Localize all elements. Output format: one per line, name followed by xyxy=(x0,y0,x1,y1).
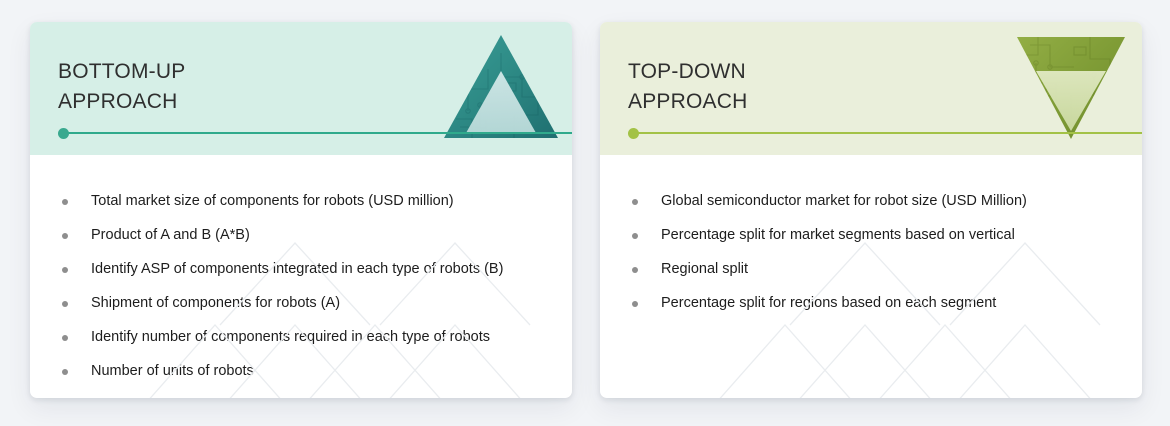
list-item-label: Identify number of components required i… xyxy=(91,329,490,345)
list-item-label: Global semiconductor market for robot si… xyxy=(661,193,1027,209)
bottom-up-bullet-list: Total market size of components for robo… xyxy=(56,193,546,380)
list-item-label: Percentage split for market segments bas… xyxy=(661,227,1015,243)
list-item: Percentage split for regions based on ea… xyxy=(626,295,1116,312)
bullet-dot-icon xyxy=(62,199,68,205)
list-item-label: Identify ASP of components integrated in… xyxy=(91,261,503,277)
bullet-dot-icon xyxy=(632,199,638,205)
list-item-label: Regional split xyxy=(661,261,748,277)
top-down-bullet-list: Global semiconductor market for robot si… xyxy=(626,193,1116,312)
list-item: Identify number of components required i… xyxy=(56,329,546,346)
list-item-label: Number of units of robots xyxy=(91,363,254,379)
list-item: Identify ASP of components integrated in… xyxy=(56,261,546,278)
bottom-up-accent-rule xyxy=(58,132,572,134)
top-down-approach-card: TOP-DOWN APPROACH Global semiconductor m… xyxy=(600,22,1142,398)
bullet-dot-icon xyxy=(632,267,638,273)
list-item: Product of A and B (A*B) xyxy=(56,227,546,244)
bottom-up-approach-card: BOTTOM-UP APPROACH Total market size of … xyxy=(30,22,572,398)
bullet-dot-icon xyxy=(62,267,68,273)
bullet-dot-icon xyxy=(632,233,638,239)
accent-line xyxy=(64,132,572,134)
list-item-label: Product of A and B (A*B) xyxy=(91,227,250,243)
bullet-dot-icon xyxy=(62,233,68,239)
bottom-up-card-body: Total market size of components for robo… xyxy=(30,155,572,398)
accent-dot xyxy=(628,128,639,139)
top-down-card-body: Global semiconductor market for robot si… xyxy=(600,155,1142,398)
bullet-dot-icon xyxy=(62,335,68,341)
list-item: Percentage split for market segments bas… xyxy=(626,227,1116,244)
top-down-card-title: TOP-DOWN APPROACH xyxy=(628,57,747,117)
top-down-accent-rule xyxy=(628,132,1142,134)
list-item-label: Total market size of components for robo… xyxy=(91,193,454,209)
list-item: Shipment of components for robots (A) xyxy=(56,295,546,312)
bottom-up-card-title: BOTTOM-UP APPROACH xyxy=(58,57,185,117)
list-item-label: Shipment of components for robots (A) xyxy=(91,295,340,311)
list-item-label: Percentage split for regions based on ea… xyxy=(661,295,996,311)
list-item: Regional split xyxy=(626,261,1116,278)
bullet-dot-icon xyxy=(62,369,68,375)
triangle-up-icon xyxy=(442,31,560,143)
bullet-dot-icon xyxy=(62,301,68,307)
bullet-dot-icon xyxy=(632,301,638,307)
accent-dot xyxy=(58,128,69,139)
bottom-up-card-header: BOTTOM-UP APPROACH xyxy=(30,22,572,155)
triangle-down-icon xyxy=(1012,31,1130,143)
approach-comparison-panel: BOTTOM-UP APPROACH Total market size of … xyxy=(0,0,1170,426)
accent-line xyxy=(634,132,1142,134)
list-item: Number of units of robots xyxy=(56,363,546,380)
list-item: Total market size of components for robo… xyxy=(56,193,546,210)
top-down-card-header: TOP-DOWN APPROACH xyxy=(600,22,1142,155)
list-item: Global semiconductor market for robot si… xyxy=(626,193,1116,210)
